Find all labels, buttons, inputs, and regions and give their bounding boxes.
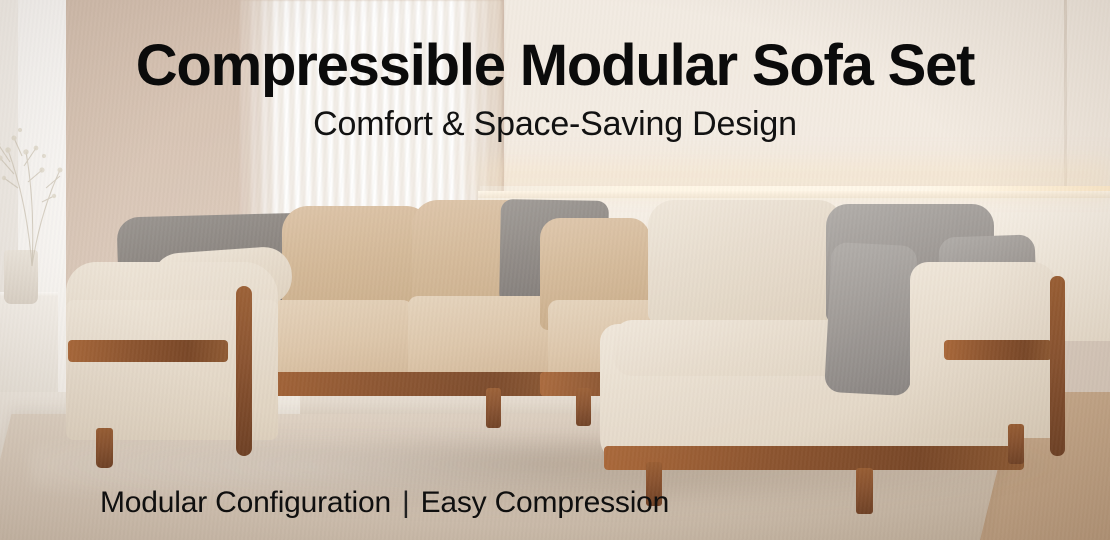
tagline-left: Modular Configuration [100,486,391,519]
banner-subtitle: Comfort & Space-Saving Design [0,105,1110,144]
tagline-separator: | [391,486,421,519]
product-banner: Compressible Modular Sofa Set Comfort & … [0,0,1110,540]
tagline-right: Easy Compression [421,486,670,519]
banner-tagline: Modular Configuration|Easy Compression [100,486,669,520]
text-overlay: Compressible Modular Sofa Set Comfort & … [0,0,1110,540]
banner-title: Compressible Modular Sofa Set [0,36,1110,97]
